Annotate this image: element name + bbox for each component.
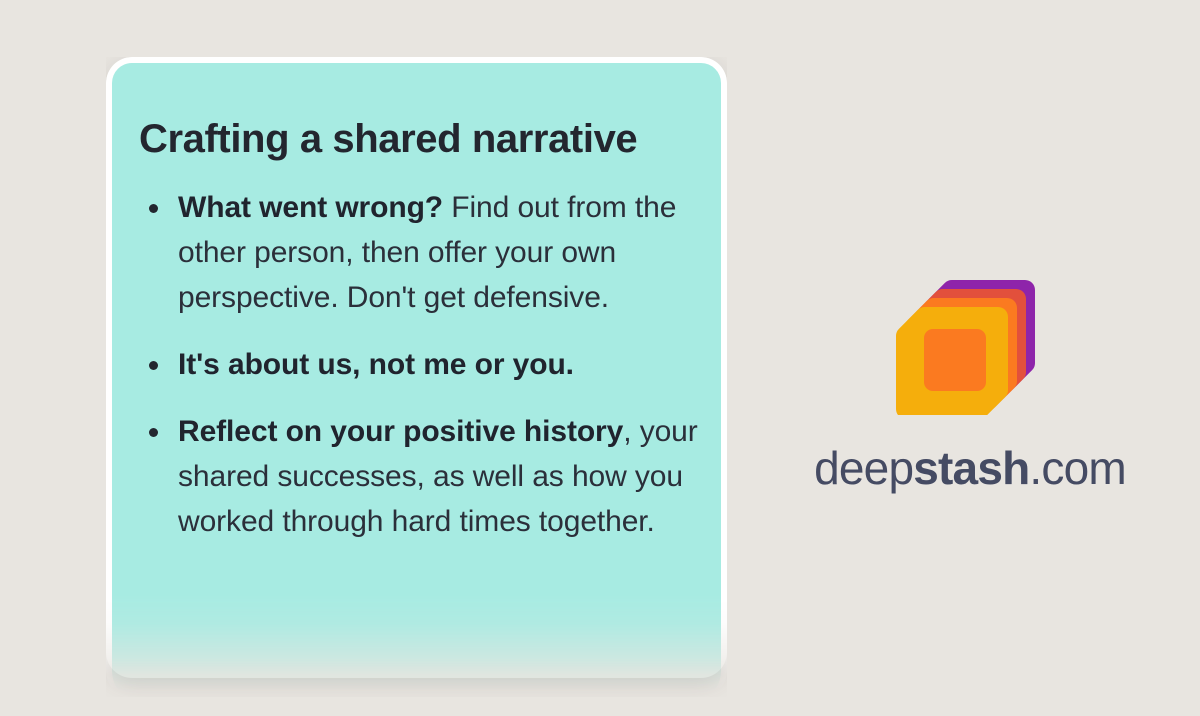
deepstash-wordmark[interactable]: deepstash.com [790, 445, 1150, 491]
wordmark-part-one: deep [814, 442, 913, 494]
insight-bullet-list: What went wrong? Find out from the other… [139, 185, 699, 544]
wordmark-part-two: stash [913, 442, 1029, 494]
wordmark-part-three: .com [1029, 442, 1125, 494]
bullet-lead-text: It's about us, not me or you. [178, 348, 574, 381]
page-canvas: Crafting a shared narrative What went wr… [0, 0, 1200, 716]
deepstash-logo[interactable] [895, 270, 1045, 415]
card-title: Crafting a shared narrative [139, 118, 699, 161]
brand-block: deepstash.com [790, 270, 1150, 491]
card-surface: Crafting a shared narrative What went wr… [106, 57, 727, 697]
list-item: It's about us, not me or you. [139, 342, 699, 387]
bullet-dot-icon [149, 204, 158, 213]
idea-card[interactable]: Crafting a shared narrative What went wr… [106, 57, 727, 697]
list-item: Reflect on your positive history, your s… [139, 409, 699, 544]
bullet-lead-text: Reflect on your positive history [178, 415, 623, 448]
card-content: Crafting a shared narrative What went wr… [112, 63, 721, 544]
bullet-lead-text: What went wrong? [178, 191, 443, 224]
bullet-dot-icon [149, 428, 158, 437]
stacked-squares-icon [895, 270, 1045, 415]
bullet-dot-icon [149, 361, 158, 370]
list-item: What went wrong? Find out from the other… [139, 185, 699, 320]
